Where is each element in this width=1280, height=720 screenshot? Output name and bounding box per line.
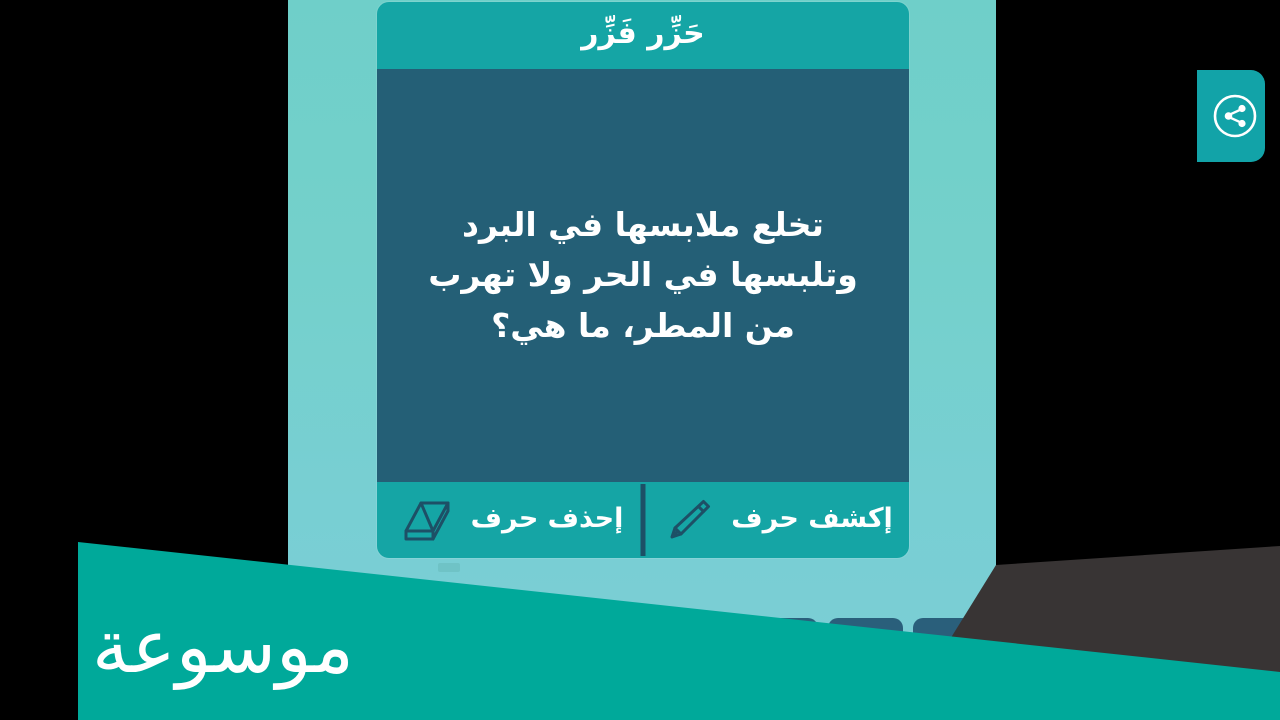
- share-icon: [1211, 92, 1259, 140]
- watermark-text: موسوعة: [92, 612, 354, 682]
- delete-letter-label: إحذف حرف: [471, 505, 624, 536]
- reveal-letter-button[interactable]: إكشف حرف: [643, 482, 909, 558]
- card-action-bar: إكشف حرف إحذف حرف: [377, 482, 909, 558]
- letter-tile[interactable]: [913, 618, 988, 676]
- letter-tile[interactable]: [743, 618, 818, 676]
- letter-tile[interactable]: [658, 618, 733, 676]
- letter-tile[interactable]: [828, 618, 903, 676]
- screenshot-stage: حَزِّر فَزِّر تخلع ملابسها في البرد وتلب…: [0, 0, 1280, 720]
- delete-letter-button[interactable]: إحذف حرف: [377, 482, 643, 558]
- pencil-icon: [659, 491, 717, 549]
- page-title: حَزِّر فَزِّر: [581, 19, 705, 53]
- riddle-question-text: تخلع ملابسها في البرد وتلبسها في الحر ول…: [399, 200, 887, 350]
- letter-slot: [438, 563, 460, 572]
- riddle-card: حَزِّر فَزِّر تخلع ملابسها في البرد وتلب…: [377, 2, 909, 558]
- card-body: تخلع ملابسها في البرد وتلبسها في الحر ول…: [377, 69, 909, 482]
- watermark-logo: موسوعة: [92, 612, 354, 682]
- share-button[interactable]: [1197, 70, 1265, 162]
- reveal-letter-label: إكشف حرف: [731, 505, 893, 536]
- card-header: حَزِّر فَزِّر: [377, 2, 909, 69]
- eraser-icon: [397, 491, 457, 549]
